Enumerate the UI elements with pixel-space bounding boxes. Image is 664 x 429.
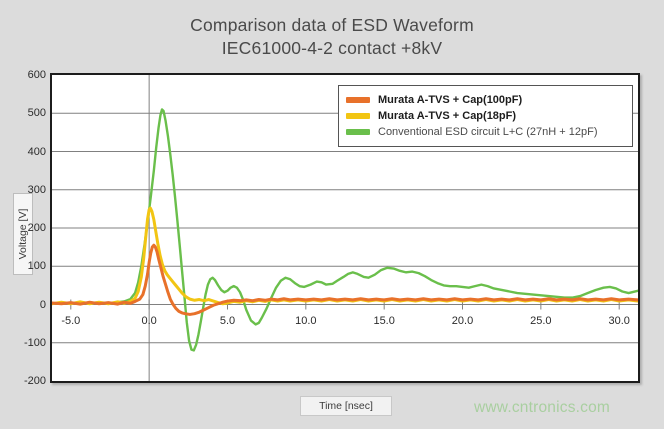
legend-color-swatch [346,113,370,119]
x-tick-label: 15.0 [373,315,394,327]
x-tick-label: 5.0 [220,315,235,327]
y-tick-label: 400 [6,146,46,158]
legend-item-label: Murata A-TVS + Cap(18pF) [378,110,516,122]
x-tick-label: 25.0 [530,315,551,327]
x-tick-label: 20.0 [452,315,473,327]
chart-legend: Murata A-TVS + Cap(100pF)Murata A-TVS + … [338,85,633,147]
y-tick-label: 100 [6,260,46,272]
chart-title-line-1: Comparison data of ESD Waveform [0,14,664,37]
x-tick-label: 30.0 [608,315,629,327]
y-axis-tick-labels: -200-1000100200300400500600 [0,73,46,383]
x-axis-label: Time [nsec] [300,396,392,416]
legend-item[interactable]: Murata A-TVS + Cap(18pF) [346,108,625,123]
y-tick-label: 200 [6,222,46,234]
chart-figure: Comparison data of ESD Waveform IEC61000… [0,0,664,429]
y-tick-label: 600 [6,69,46,81]
y-tick-label: 0 [6,299,46,311]
x-tick-label: -5.0 [61,315,80,327]
y-tick-label: -200 [6,375,46,387]
chart-title: Comparison data of ESD Waveform IEC61000… [0,14,664,60]
y-tick-label: 300 [6,184,46,196]
legend-item-label: Conventional ESD circuit L+C (27nH + 12p… [378,126,598,138]
x-tick-label: 10.0 [295,315,316,327]
x-tick-label: 0.0 [141,315,156,327]
legend-item[interactable]: Murata A-TVS + Cap(100pF) [346,92,625,107]
legend-color-swatch [346,129,370,135]
x-axis-tick-labels: -5.00.05.010.015.020.025.030.0 [50,315,640,331]
legend-item[interactable]: Conventional ESD circuit L+C (27nH + 12p… [346,124,625,139]
y-tick-label: 500 [6,107,46,119]
site-watermark: www.cntronics.com [474,399,610,417]
legend-color-swatch [346,97,370,103]
chart-title-line-2: IEC61000-4-2 contact +8kV [0,37,664,60]
y-tick-label: -100 [6,337,46,349]
legend-item-label: Murata A-TVS + Cap(100pF) [378,94,522,106]
